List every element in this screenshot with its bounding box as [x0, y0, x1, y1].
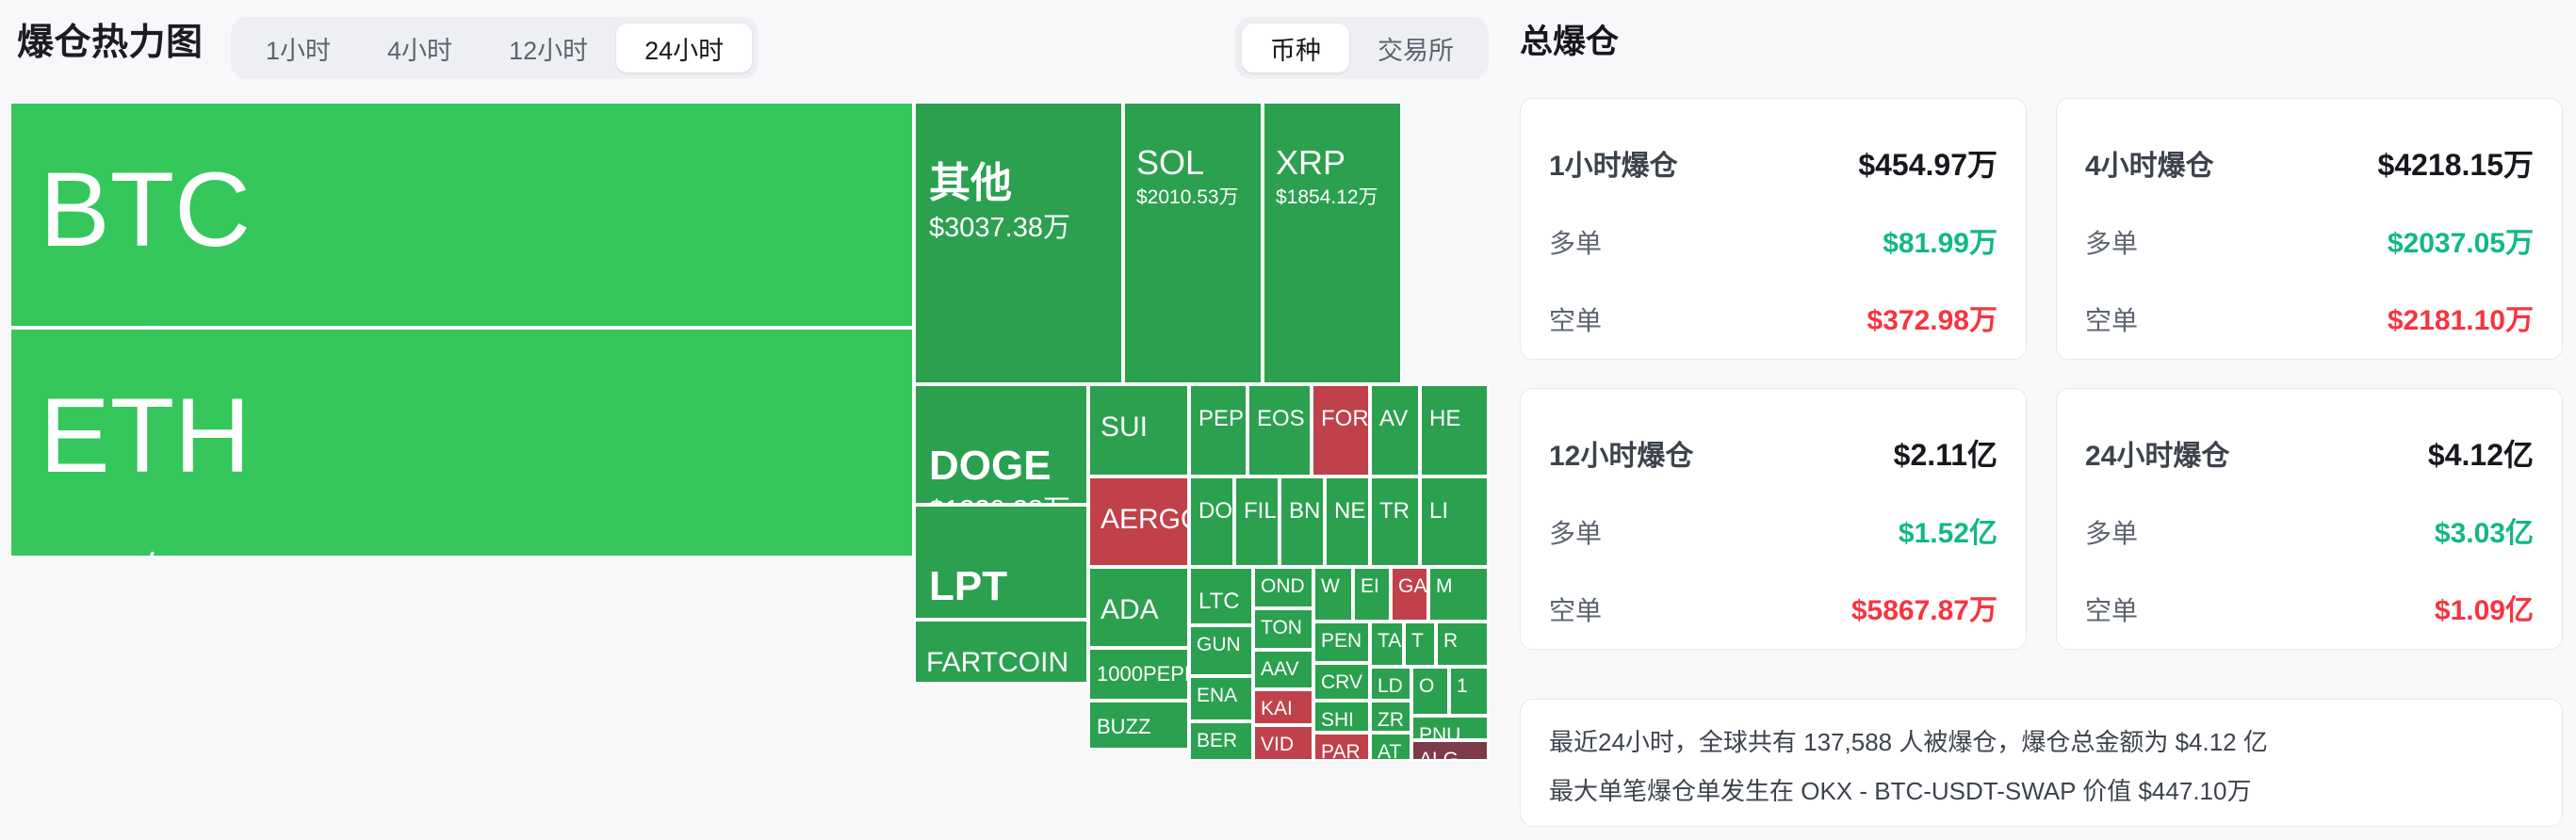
long-label-row: 多单$2037.05万	[2085, 219, 2534, 261]
tile-value: $3037.38万	[929, 214, 1121, 244]
long-label-row: 多单$81.99万	[1549, 219, 1997, 261]
tile-symbol: LTC	[1198, 590, 1251, 613]
treemap-tile-TR[interactable]: TR	[1370, 477, 1420, 567]
treemap-tile-FARTCOIN[interactable]: FARTCOIN	[914, 620, 1088, 684]
treemap-tile-LD[interactable]: LD	[1370, 667, 1411, 701]
tile-symbol: AERGO	[1101, 505, 1187, 535]
treemap-tile-HE[interactable]: HE	[1420, 384, 1489, 477]
view-mode-tab-group[interactable]: 币种交易所	[1235, 17, 1489, 79]
tile-symbol: AV	[1379, 407, 1418, 430]
stat-card-total: $2.11亿	[1894, 431, 1997, 475]
treemap-tile-W[interactable]: W	[1313, 567, 1353, 622]
tile-symbol: 1	[1457, 676, 1487, 697]
tile-symbol: R	[1443, 631, 1487, 652]
treemap-tile-PEP[interactable]: PEP	[1189, 384, 1247, 477]
stat-card-total: $4.12亿	[2428, 431, 2534, 475]
tile-symbol: NE	[1334, 499, 1368, 523]
tile-symbol: W	[1321, 576, 1351, 597]
tile-symbol: VID	[1261, 735, 1312, 755]
stat-card-total: $454.97万	[1858, 141, 1997, 185]
long-label-row: 多单$1.52亿	[1549, 509, 1997, 551]
tile-symbol: AT	[1378, 742, 1410, 761]
short-label-row: 空单$2181.10万	[2085, 297, 2534, 338]
tile-symbol: AAV	[1261, 659, 1312, 680]
treemap-tile-TA[interactable]: TA	[1370, 622, 1404, 667]
summary-line-2: 最大单笔爆仓单发生在 OKX - BTC-USDT-SWAP 价值 $447.1…	[1549, 779, 2251, 803]
tile-symbol: SUI	[1101, 412, 1187, 443]
tile-symbol: 其他	[929, 162, 1121, 205]
tile-symbol: ZR	[1378, 710, 1410, 731]
timerange-tab-3[interactable]: 24小时	[616, 24, 752, 73]
tile-symbol: PAR	[1321, 742, 1368, 761]
tile-symbol: O	[1419, 676, 1447, 697]
treemap-tile-VID[interactable]: VID	[1253, 725, 1313, 761]
treemap-tile-1000PEPE[interactable]: 1000PEPE	[1088, 648, 1189, 701]
tile-symbol: PEP	[1198, 407, 1246, 430]
stat-card-total: $4218.15万	[2378, 141, 2534, 185]
tile-symbol: M	[1436, 576, 1487, 597]
tile-symbol: DO	[1198, 499, 1232, 523]
tile-symbol: SHI	[1321, 710, 1368, 731]
treemap-tile-PEN[interactable]: PEN	[1313, 622, 1370, 663]
short-label: 空单	[1549, 300, 1602, 338]
summary-card: 最近24小时，全球共有 137,588 人被爆仓，爆仓总金额为 $4.12 亿 …	[1520, 699, 2563, 827]
long-value: $1.52亿	[1899, 509, 1997, 551]
long-label: 多单	[2085, 223, 2138, 261]
tile-symbol: T	[1411, 631, 1434, 652]
treemap-tile-GA[interactable]: GA	[1391, 567, 1428, 622]
long-label: 多单	[2085, 513, 2138, 551]
timerange-tab-1[interactable]: 4小时	[359, 24, 481, 73]
tile-symbol: EOS	[1257, 407, 1310, 430]
treemap-tile-KAI[interactable]: KAI	[1253, 689, 1313, 725]
long-label: 多单	[1549, 223, 1602, 261]
tile-symbol: TON	[1261, 618, 1312, 638]
treemap-tile-ETH[interactable]: ETH$1.12亿	[9, 328, 914, 557]
tile-symbol: CRV	[1321, 672, 1368, 693]
tile-symbol: LPT	[929, 565, 1086, 608]
total-liquidation-title: 总爆仓	[1520, 15, 1619, 63]
treemap-tile-BN[interactable]: BN	[1280, 477, 1325, 567]
long-value: $2037.05万	[2388, 219, 2534, 261]
timerange-tab-2[interactable]: 12小时	[481, 24, 616, 73]
short-label: 空单	[2085, 590, 2138, 628]
tile-symbol: FIL	[1244, 499, 1278, 523]
short-label: 空单	[2085, 300, 2138, 338]
short-value: $2181.10万	[2388, 297, 2534, 338]
treemap-tile-BER[interactable]: BER	[1189, 721, 1253, 761]
tile-symbol: TR	[1379, 499, 1418, 523]
treemap-tile-FOR[interactable]: FOR	[1312, 384, 1370, 477]
treemap-tile-DO[interactable]: DO	[1189, 477, 1234, 567]
treemap-tile-LPT[interactable]: LPT$953.99万	[914, 505, 1088, 620]
treemap-tile-PNU[interactable]: PNU	[1411, 716, 1489, 740]
short-label-row: 空单$5867.87万	[1549, 587, 1997, 628]
tile-symbol: PEN	[1321, 631, 1368, 652]
treemap-tile-SOL[interactable]: SOL$2010.53万	[1123, 102, 1263, 384]
treemap-tile-FIL[interactable]: FIL	[1234, 477, 1280, 567]
short-value: $1.09亿	[2435, 587, 2534, 628]
tile-symbol: BUZZ	[1097, 716, 1187, 737]
tile-symbol: HE	[1429, 407, 1487, 430]
tile-symbol: BER	[1197, 731, 1251, 751]
treemap-tile-BTC[interactable]: BTC$1.41亿	[9, 102, 914, 328]
treemap-tile-1[interactable]: 1	[1449, 667, 1489, 716]
treemap-tile-AERGO[interactable]: AERGO	[1088, 477, 1189, 567]
treemap-tile-BUZZ[interactable]: BUZZ	[1088, 701, 1189, 750]
tile-symbol: ENA	[1197, 686, 1251, 706]
stat-card-title-row: 24小时爆仓$4.12亿	[2085, 431, 2534, 475]
tile-symbol: BN	[1289, 499, 1323, 523]
treemap-tile-GUN[interactable]: GUN	[1189, 625, 1253, 676]
treemap-tile-ZR[interactable]: ZR	[1370, 701, 1411, 733]
treemap-tile-TON[interactable]: TON	[1253, 608, 1313, 650]
stat-card-0: 1小时爆仓$454.97万多单$81.99万空单$372.98万	[1520, 98, 2027, 360]
tile-symbol: 1000PEPE	[1097, 663, 1187, 685]
tile-symbol: SOL	[1136, 145, 1261, 181]
treemap-tile-其他[interactable]: 其他$3037.38万	[914, 102, 1123, 384]
timerange-tab-group[interactable]: 1小时4小时12小时24小时	[231, 17, 758, 79]
tile-symbol: FOR	[1321, 407, 1368, 430]
treemap-tile-O[interactable]: O	[1411, 667, 1449, 716]
tile-symbol: ETH	[40, 380, 912, 492]
liquidation-treemap[interactable]: BTC$1.41亿ETH$1.12亿其他$3037.38万SOL$2010.53…	[0, 102, 1506, 840]
page-header: 爆仓热力图 1小时4小时12小时24小时 币种交易所 总爆仓	[0, 0, 2576, 92]
long-label-row: 多单$3.03亿	[2085, 509, 2534, 551]
treemap-tile-ENA[interactable]: ENA	[1189, 676, 1253, 721]
treemap-tile-CRV[interactable]: CRV	[1313, 663, 1370, 701]
tile-symbol: TA	[1378, 631, 1402, 652]
treemap-tile-DOGE[interactable]: DOGE$1220.28万	[914, 384, 1088, 505]
treemap-tile-ADA[interactable]: ADA	[1088, 567, 1189, 648]
summary-line-1: 最近24小时，全球共有 137,588 人被爆仓，爆仓总金额为 $4.12 亿	[1549, 730, 2268, 754]
treemap-tile-R[interactable]: R	[1436, 622, 1489, 667]
treemap-tile-SUI[interactable]: SUI	[1088, 384, 1189, 477]
short-label-row: 空单$1.09亿	[2085, 587, 2534, 628]
treemap-tile-XRP[interactable]: XRP$1854.12万	[1263, 102, 1402, 384]
tile-symbol: ADA	[1101, 595, 1187, 625]
short-value: $372.98万	[1867, 297, 1997, 338]
stat-card-2: 12小时爆仓$2.11亿多单$1.52亿空单$5867.87万	[1520, 388, 2027, 650]
treemap-tile-NE[interactable]: NE	[1325, 477, 1370, 567]
tile-symbol: PNU	[1419, 725, 1487, 740]
treemap-tile-EOS[interactable]: EOS	[1247, 384, 1312, 477]
short-value: $5867.87万	[1851, 587, 1997, 628]
short-label: 空单	[1549, 590, 1602, 628]
tile-value: $2010.53万	[1136, 186, 1261, 208]
liquidation-heatmap-page: 爆仓热力图 1小时4小时12小时24小时 币种交易所 总爆仓 BTC$1.41亿…	[0, 0, 2576, 840]
treemap-tile-OND[interactable]: OND	[1253, 567, 1313, 608]
stat-card-1: 4小时爆仓$4218.15万多单$2037.05万空单$2181.10万	[2056, 98, 2563, 360]
tile-symbol: GUN	[1197, 635, 1251, 655]
timerange-tab-0[interactable]: 1小时	[237, 24, 359, 73]
treemap-viewport: BTC$1.41亿ETH$1.12亿其他$3037.38万SOL$2010.53…	[0, 102, 1506, 840]
stat-card-title-row: 1小时爆仓$454.97万	[1549, 141, 1997, 185]
stat-card-title: 4小时爆仓	[2085, 142, 2214, 184]
tile-value: $1.12亿	[41, 550, 912, 557]
stat-card-title: 1小时爆仓	[1549, 142, 1678, 184]
viewmode-tab-1[interactable]: 交易所	[1349, 24, 1482, 73]
tile-symbol: XRP	[1276, 145, 1400, 181]
tile-value: $1220.28万	[929, 496, 1086, 505]
long-value: $81.99万	[1883, 219, 1997, 261]
treemap-tile-AAV[interactable]: AAV	[1253, 650, 1313, 689]
treemap-tile-T[interactable]: T	[1404, 622, 1436, 667]
tile-symbol: KAI	[1261, 699, 1312, 719]
stat-card-title-row: 12小时爆仓$2.11亿	[1549, 431, 1997, 475]
treemap-tile-AV[interactable]: AV	[1370, 384, 1420, 477]
long-value: $3.03亿	[2435, 509, 2534, 551]
tile-symbol: ALG	[1419, 750, 1487, 761]
treemap-tile-PAR[interactable]: PAR	[1313, 733, 1370, 761]
short-label-row: 空单$372.98万	[1549, 297, 1997, 338]
tile-symbol: BTC	[40, 154, 912, 266]
tile-symbol: EI	[1361, 576, 1389, 597]
treemap-tile-M[interactable]: M	[1428, 567, 1489, 622]
long-label: 多单	[1549, 513, 1602, 551]
tile-symbol: FARTCOIN	[926, 648, 1086, 678]
tile-symbol: GA	[1398, 576, 1427, 597]
tile-symbol: DOGE	[929, 444, 1086, 488]
stat-card-title-row: 4小时爆仓$4218.15万	[2085, 141, 2534, 185]
page-title: 爆仓热力图	[17, 13, 204, 66]
tile-symbol: LI	[1429, 499, 1487, 523]
treemap-tile-LTC[interactable]: LTC	[1189, 567, 1253, 625]
tile-symbol: LD	[1378, 676, 1410, 697]
treemap-tile-ALG[interactable]: ALG	[1411, 740, 1489, 761]
viewmode-tab-0[interactable]: 币种	[1242, 24, 1349, 73]
treemap-tile-SHI[interactable]: SHI	[1313, 701, 1370, 733]
tile-value: $1854.12万	[1276, 186, 1400, 208]
treemap-tile-EI[interactable]: EI	[1353, 567, 1391, 622]
stat-card-title: 12小时爆仓	[1549, 432, 1693, 474]
stat-card-title: 24小时爆仓	[2085, 432, 2229, 474]
stat-card-3: 24小时爆仓$4.12亿多单$3.03亿空单$1.09亿	[2056, 388, 2563, 650]
treemap-tile-LI[interactable]: LI	[1420, 477, 1489, 567]
treemap-tile-AT[interactable]: AT	[1370, 733, 1411, 761]
tile-symbol: OND	[1261, 576, 1312, 597]
